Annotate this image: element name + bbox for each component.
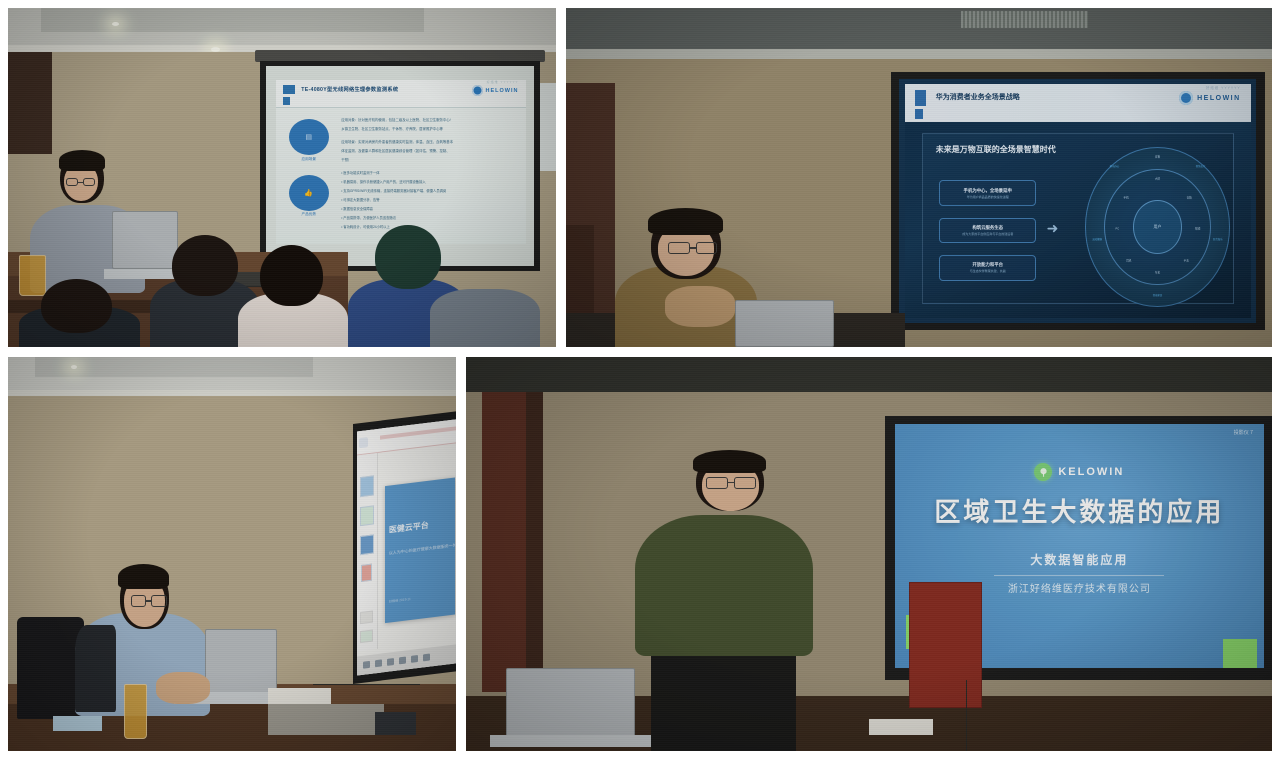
wheel-node: 手机 bbox=[1123, 197, 1128, 200]
presenter-woman-hair bbox=[59, 150, 105, 170]
wheel-node: 眼镜 bbox=[1195, 229, 1200, 232]
divider bbox=[994, 575, 1164, 576]
wheel-node: 手表 bbox=[1184, 260, 1189, 263]
office-chair bbox=[17, 617, 84, 719]
laptop-base bbox=[490, 735, 651, 747]
accent-square bbox=[915, 90, 926, 106]
slide-title: 华为消费者业务全场景战略 bbox=[936, 92, 1020, 102]
thumbs-up-icon: 👍 bbox=[289, 175, 329, 211]
accent-square bbox=[283, 85, 295, 95]
glasses-icon bbox=[696, 242, 717, 254]
strategy-box-1: 手机为中心，全场景延申 华为用户商品品质的快速化进程 bbox=[939, 180, 1036, 206]
typing-man-hand bbox=[156, 672, 210, 704]
wheel-node: 车机 bbox=[1155, 273, 1160, 276]
glasses-icon bbox=[151, 595, 166, 607]
slide-text-line: • 省功耗设计，可使用24小时以上 bbox=[341, 224, 390, 229]
wheel-node: 音箱 bbox=[1186, 197, 1191, 200]
section-caption-1: 应用场景 bbox=[285, 157, 332, 162]
taskbar-icon[interactable] bbox=[363, 661, 370, 669]
slide-top-right: 华为消费者业务全场景战略 HELOWIN 好络维 YYYYYY 未来是万物互联的… bbox=[905, 84, 1252, 318]
laptop-screen bbox=[205, 629, 277, 696]
slide-title: 区域卫生大数据的应用 bbox=[895, 492, 1264, 529]
photo-panel-bottom-right: 投影仪 7 KELOWIN 区域卫生大数据的应用 大数据智能应用 浙江好络维医疗… bbox=[466, 357, 1272, 751]
ceiling-vent bbox=[961, 11, 1088, 28]
wall-trim bbox=[8, 52, 52, 154]
slide-text-line: 应用场景：实现对病房内外患者的健康实时监测，体温、血压、血氧等基本 bbox=[341, 139, 453, 144]
glasses-icon bbox=[66, 178, 78, 187]
strategy-box-subtitle: 华为用户商品品质的快速化进程 bbox=[967, 195, 1009, 199]
wheel-sector-label: 智能家居 bbox=[1153, 295, 1163, 297]
helowin-logo-text: HELOWIN bbox=[1197, 95, 1241, 102]
kelowin-logo: KELOWIN bbox=[1034, 463, 1124, 481]
accent-square-small bbox=[915, 109, 923, 120]
strategy-box-subtitle: 成为大家的平台供应商与平台的建设者 bbox=[962, 232, 1013, 236]
editor-tab bbox=[359, 437, 368, 448]
audience-man-cap-head bbox=[375, 225, 441, 289]
helowin-logo-icon bbox=[472, 85, 483, 96]
slide-text-line: • 数据信息安全保障高 bbox=[341, 206, 373, 211]
scenario-wheel: 用户 大屏 手机 音箱 PC 眼镜 耳机 手表 车机 音箱 移动办公 智慧出行 … bbox=[1085, 147, 1231, 306]
laptop-screen bbox=[735, 300, 834, 347]
typing-man-hair bbox=[118, 564, 170, 590]
slide-thumbnail[interactable] bbox=[361, 564, 372, 582]
slide-text-line: 体征监测，及健康人群和社区居民健康综合管理（如评估、预警、控制、 bbox=[341, 148, 450, 153]
red-box bbox=[909, 582, 982, 708]
monitor-icon: ▤ bbox=[289, 119, 329, 155]
standing-presenter-sweater bbox=[635, 515, 812, 657]
audience-man-1-head bbox=[172, 235, 238, 296]
photo-panel-top-right: 华为消费者业务全场景战略 HELOWIN 好络维 YYYYYY 未来是万物互联的… bbox=[566, 8, 1272, 347]
slide-title: TE-4080Y型无线网络生理参数监测系统 bbox=[301, 86, 398, 93]
projector-screen-surface: 华为消费者业务全场景战略 HELOWIN 好络维 YYYYYY 未来是万物互联的… bbox=[899, 79, 1256, 323]
wheel-outer-node: 音箱 bbox=[1155, 156, 1160, 159]
standing-presenter-hair bbox=[693, 450, 766, 474]
wooden-door bbox=[482, 392, 526, 691]
strategy-box-subtitle: 与生态伙伴繁荣共建、共赢 bbox=[970, 269, 1006, 273]
laptop-screen bbox=[112, 211, 178, 269]
projector-screen-frame: 医健云平台 以人为中心的医疗健康大数据服务一体化解决方案 好络维 2019-11 bbox=[353, 411, 456, 684]
slide-top-left: TE-4080Y型无线网络生理参数监测系统 HELOWIN 好络维 YYYYYY… bbox=[276, 80, 526, 244]
accent-block bbox=[1223, 639, 1256, 668]
strategy-box-2: 构筑云服务生态 成为大家的平台供应商与平台的建设者 bbox=[939, 218, 1036, 244]
kelowin-logo-text: KELOWIN bbox=[1058, 466, 1124, 478]
taskbar-icon[interactable] bbox=[387, 658, 394, 666]
slide-thumbnail[interactable] bbox=[360, 505, 374, 526]
slide-text-line: • 机器易用、操作手册便捷入户用户的，还可开展设备接入 bbox=[341, 179, 426, 184]
glasses-bridge bbox=[78, 182, 83, 183]
wheel-sector-label: 智慧出行 bbox=[1196, 166, 1206, 168]
canvas-subtitle: 以人为中心的医疗健康大数据服务一体化解决方案 bbox=[389, 540, 456, 557]
ceiling-downlight bbox=[112, 22, 119, 26]
editor-window: 医健云平台 以人为中心的医疗健康大数据服务一体化解决方案 好络维 2019-11 bbox=[357, 419, 456, 676]
slide-canvas[interactable]: 医健云平台 以人为中心的医疗健康大数据服务一体化解决方案 好络维 2019-11 bbox=[385, 478, 456, 624]
watermark: 好络维 YYYYYY bbox=[487, 80, 519, 84]
cable bbox=[966, 680, 968, 751]
laptop-screen bbox=[506, 668, 635, 739]
audience-man-right-body bbox=[430, 289, 540, 347]
accent-square-small bbox=[283, 97, 290, 105]
glasses-bridge bbox=[728, 482, 735, 483]
photo-collage: TE-4080Y型无线网络生理参数监测系统 HELOWIN 好络维 YYYYYY… bbox=[0, 0, 1280, 759]
glasses-icon bbox=[83, 178, 95, 187]
slide-text-line: • 可绑定大数据分析、告警 bbox=[341, 197, 379, 202]
canvas-footer: 好络维 2019-11 bbox=[389, 596, 411, 604]
glasses-icon bbox=[668, 242, 689, 254]
wheel-node: 大屏 bbox=[1155, 178, 1160, 181]
ceiling bbox=[466, 357, 1272, 392]
helowin-logo: HELOWIN bbox=[472, 85, 519, 96]
tea-glass bbox=[19, 255, 46, 296]
ceiling-downlight bbox=[71, 365, 77, 369]
papers bbox=[869, 719, 933, 735]
projector-screen-surface: 医健云平台 以人为中心的医疗健康大数据服务一体化解决方案 好络维 2019-11 bbox=[357, 419, 456, 676]
wheel-node: 耳机 bbox=[1126, 260, 1131, 263]
glasses-bridge bbox=[689, 247, 697, 248]
table-glass-top bbox=[268, 704, 384, 736]
helowin-logo-text: HELOWIN bbox=[486, 88, 519, 94]
slide-thumbnail[interactable] bbox=[360, 630, 373, 644]
glasses-bridge bbox=[146, 600, 151, 601]
taskbar-icon[interactable] bbox=[423, 653, 430, 661]
wheel-sector-label: 影音娱乐 bbox=[1213, 238, 1223, 240]
slide-text-line: 乡镇卫生院、社区卫生服务站点、干休所、疗养院、居家照护中心等 bbox=[341, 126, 443, 131]
slide-thumbnail[interactable] bbox=[360, 610, 373, 624]
glasses-icon bbox=[706, 477, 728, 489]
tea-glass bbox=[124, 684, 146, 739]
audience-woman-head bbox=[260, 245, 323, 306]
strategy-box-title: 开放能力和平台 bbox=[972, 262, 1003, 268]
wheel-sector-label: 运动健康 bbox=[1092, 238, 1102, 240]
photo-panel-bottom-left: 医健云平台 以人为中心的医疗健康大数据服务一体化解决方案 好络维 2019-11 bbox=[8, 357, 456, 751]
seated-man-hand bbox=[665, 286, 736, 327]
section-caption-2: 产品优势 bbox=[285, 212, 332, 217]
wheel-sector-label: 移动办公 bbox=[1110, 166, 1120, 168]
cable bbox=[313, 684, 421, 685]
slide-thumbnail[interactable] bbox=[360, 534, 374, 555]
slide-text-line: • 产品易携带、方便医护人员巡查随访 bbox=[341, 215, 396, 220]
wheel-hub: 用户 bbox=[1133, 200, 1182, 253]
right-arrow-icon: ➜ bbox=[1047, 220, 1059, 237]
strategy-box-title: 构筑云服务生态 bbox=[972, 225, 1003, 231]
strategy-box-title: 手机为中心，全场景延申 bbox=[964, 188, 1012, 194]
slide-thumbnail[interactable] bbox=[360, 476, 374, 497]
ceiling-cove bbox=[566, 49, 1272, 59]
strategy-box-3: 开放能力和平台 与生态伙伴繁荣共建、共赢 bbox=[939, 255, 1036, 281]
ceiling-inset bbox=[41, 8, 425, 32]
taskbar-icon[interactable] bbox=[411, 655, 418, 663]
taskbar-icon[interactable] bbox=[375, 659, 382, 667]
tree-icon bbox=[1034, 463, 1052, 481]
door-frame bbox=[526, 392, 542, 691]
taskbar-icon[interactable] bbox=[399, 656, 406, 664]
helowin-logo-icon bbox=[1179, 91, 1193, 105]
slide-text-line: • 支持GPRS/WIFI无线传输，连接终端服务器对接客户端、便捷人员调阅 bbox=[341, 188, 446, 193]
device bbox=[375, 712, 415, 736]
editor-ribbon bbox=[357, 419, 456, 456]
helowin-logo: HELOWIN bbox=[1179, 91, 1241, 105]
canvas-title: 医健云平台 bbox=[389, 519, 429, 535]
glasses-icon bbox=[734, 477, 756, 489]
audience-front-head bbox=[41, 279, 112, 333]
typing-man-vest bbox=[75, 625, 115, 712]
glasses-icon bbox=[131, 595, 146, 607]
papers bbox=[53, 716, 102, 732]
seated-man-hair bbox=[648, 208, 723, 235]
wheel-node: PC bbox=[1116, 229, 1120, 232]
wheel-hub-label: 用户 bbox=[1154, 224, 1162, 230]
slide-text-line: • 医多功能实时监测于一体 bbox=[341, 170, 379, 175]
photo-panel-top-left: TE-4080Y型无线网络生理参数监测系统 HELOWIN 好络维 YYYYYY… bbox=[8, 8, 556, 347]
projector-note: 投影仪 7 bbox=[1234, 429, 1253, 436]
slide-text-line: 应用对象：针对医疗机构使用，包括二级及以上医院、社区卫生服务中心/ bbox=[341, 117, 450, 122]
slide-text-line: 干预） bbox=[341, 157, 351, 162]
slide-headline: 未来是万物互联的全场景智慧时代 bbox=[936, 144, 1056, 155]
papers bbox=[268, 688, 331, 704]
slide-subtitle: 大数据智能应用 bbox=[895, 551, 1264, 568]
watermark: 好络维 YYYYYY bbox=[1206, 85, 1241, 90]
